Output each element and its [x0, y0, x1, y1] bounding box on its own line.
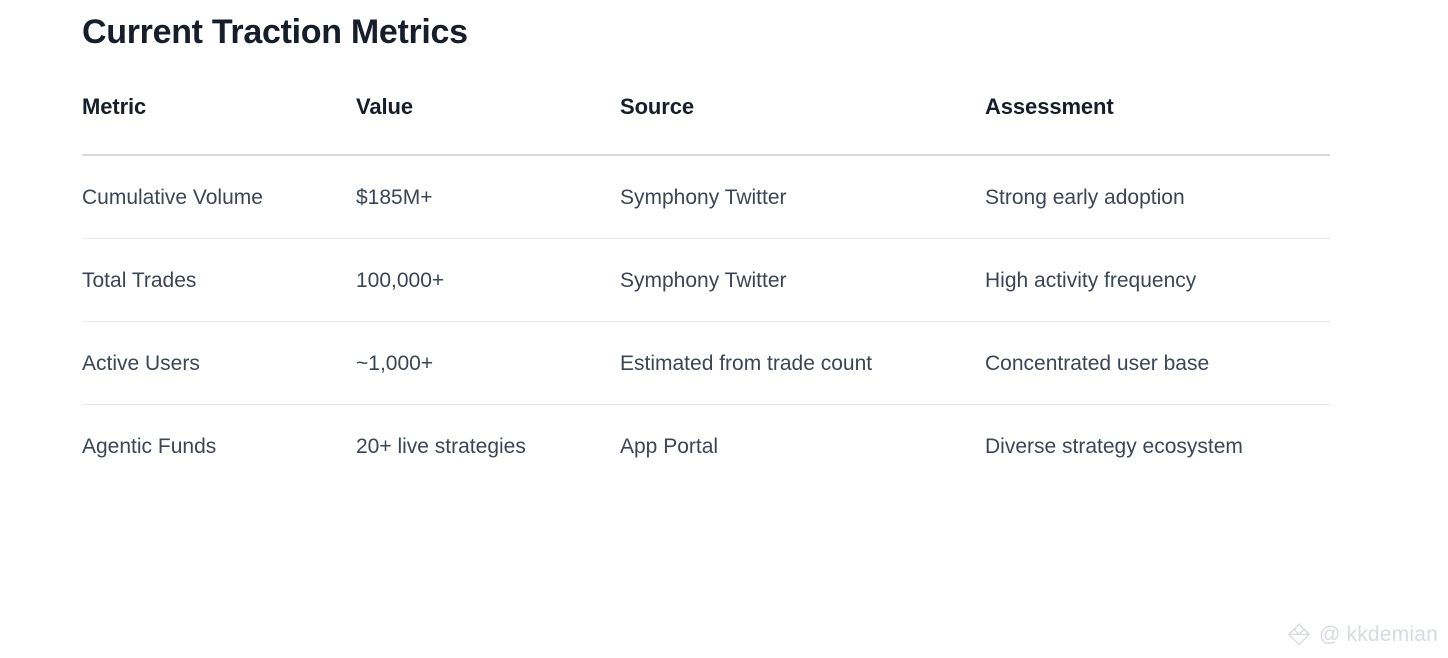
table-header-row: Metric Value Source Assessment — [82, 92, 1330, 155]
column-header-value: Value — [356, 92, 620, 155]
table-row: Active Users ~1,000+ Estimated from trad… — [82, 322, 1330, 405]
watermark-text: @ kkdemian — [1319, 622, 1438, 648]
cell-assessment: Diverse strategy ecosystem — [985, 405, 1330, 488]
table-row: Cumulative Volume $185M+ Symphony Twitte… — [82, 155, 1330, 239]
cell-value: 20+ live strategies — [356, 405, 620, 488]
table-row: Total Trades 100,000+ Symphony Twitter H… — [82, 239, 1330, 322]
cell-value: $185M+ — [356, 155, 620, 239]
column-header-metric: Metric — [82, 92, 356, 155]
column-header-assessment: Assessment — [985, 92, 1330, 155]
page-root: Current Traction Metrics Metric Value So… — [0, 0, 1448, 658]
cell-assessment: Concentrated user base — [985, 322, 1330, 405]
cell-assessment: High activity frequency — [985, 239, 1330, 322]
diamond-gem-icon — [1286, 622, 1312, 648]
cell-metric: Cumulative Volume — [82, 155, 356, 239]
column-header-source: Source — [620, 92, 985, 155]
cell-metric: Active Users — [82, 322, 356, 405]
cell-metric: Agentic Funds — [82, 405, 356, 488]
page-title: Current Traction Metrics — [82, 10, 468, 54]
cell-metric: Total Trades — [82, 239, 356, 322]
cell-value: 100,000+ — [356, 239, 620, 322]
table-row: Agentic Funds 20+ live strategies App Po… — [82, 405, 1330, 488]
cell-source: Estimated from trade count — [620, 322, 985, 405]
watermark: @ kkdemian — [1286, 622, 1438, 648]
traction-metrics-table: Metric Value Source Assessment Cumulativ… — [82, 92, 1330, 487]
cell-source: Symphony Twitter — [620, 239, 985, 322]
cell-source: Symphony Twitter — [620, 155, 985, 239]
cell-source: App Portal — [620, 405, 985, 488]
table-body: Cumulative Volume $185M+ Symphony Twitte… — [82, 155, 1330, 487]
cell-value: ~1,000+ — [356, 322, 620, 405]
cell-assessment: Strong early adoption — [985, 155, 1330, 239]
table-header: Metric Value Source Assessment — [82, 92, 1330, 155]
